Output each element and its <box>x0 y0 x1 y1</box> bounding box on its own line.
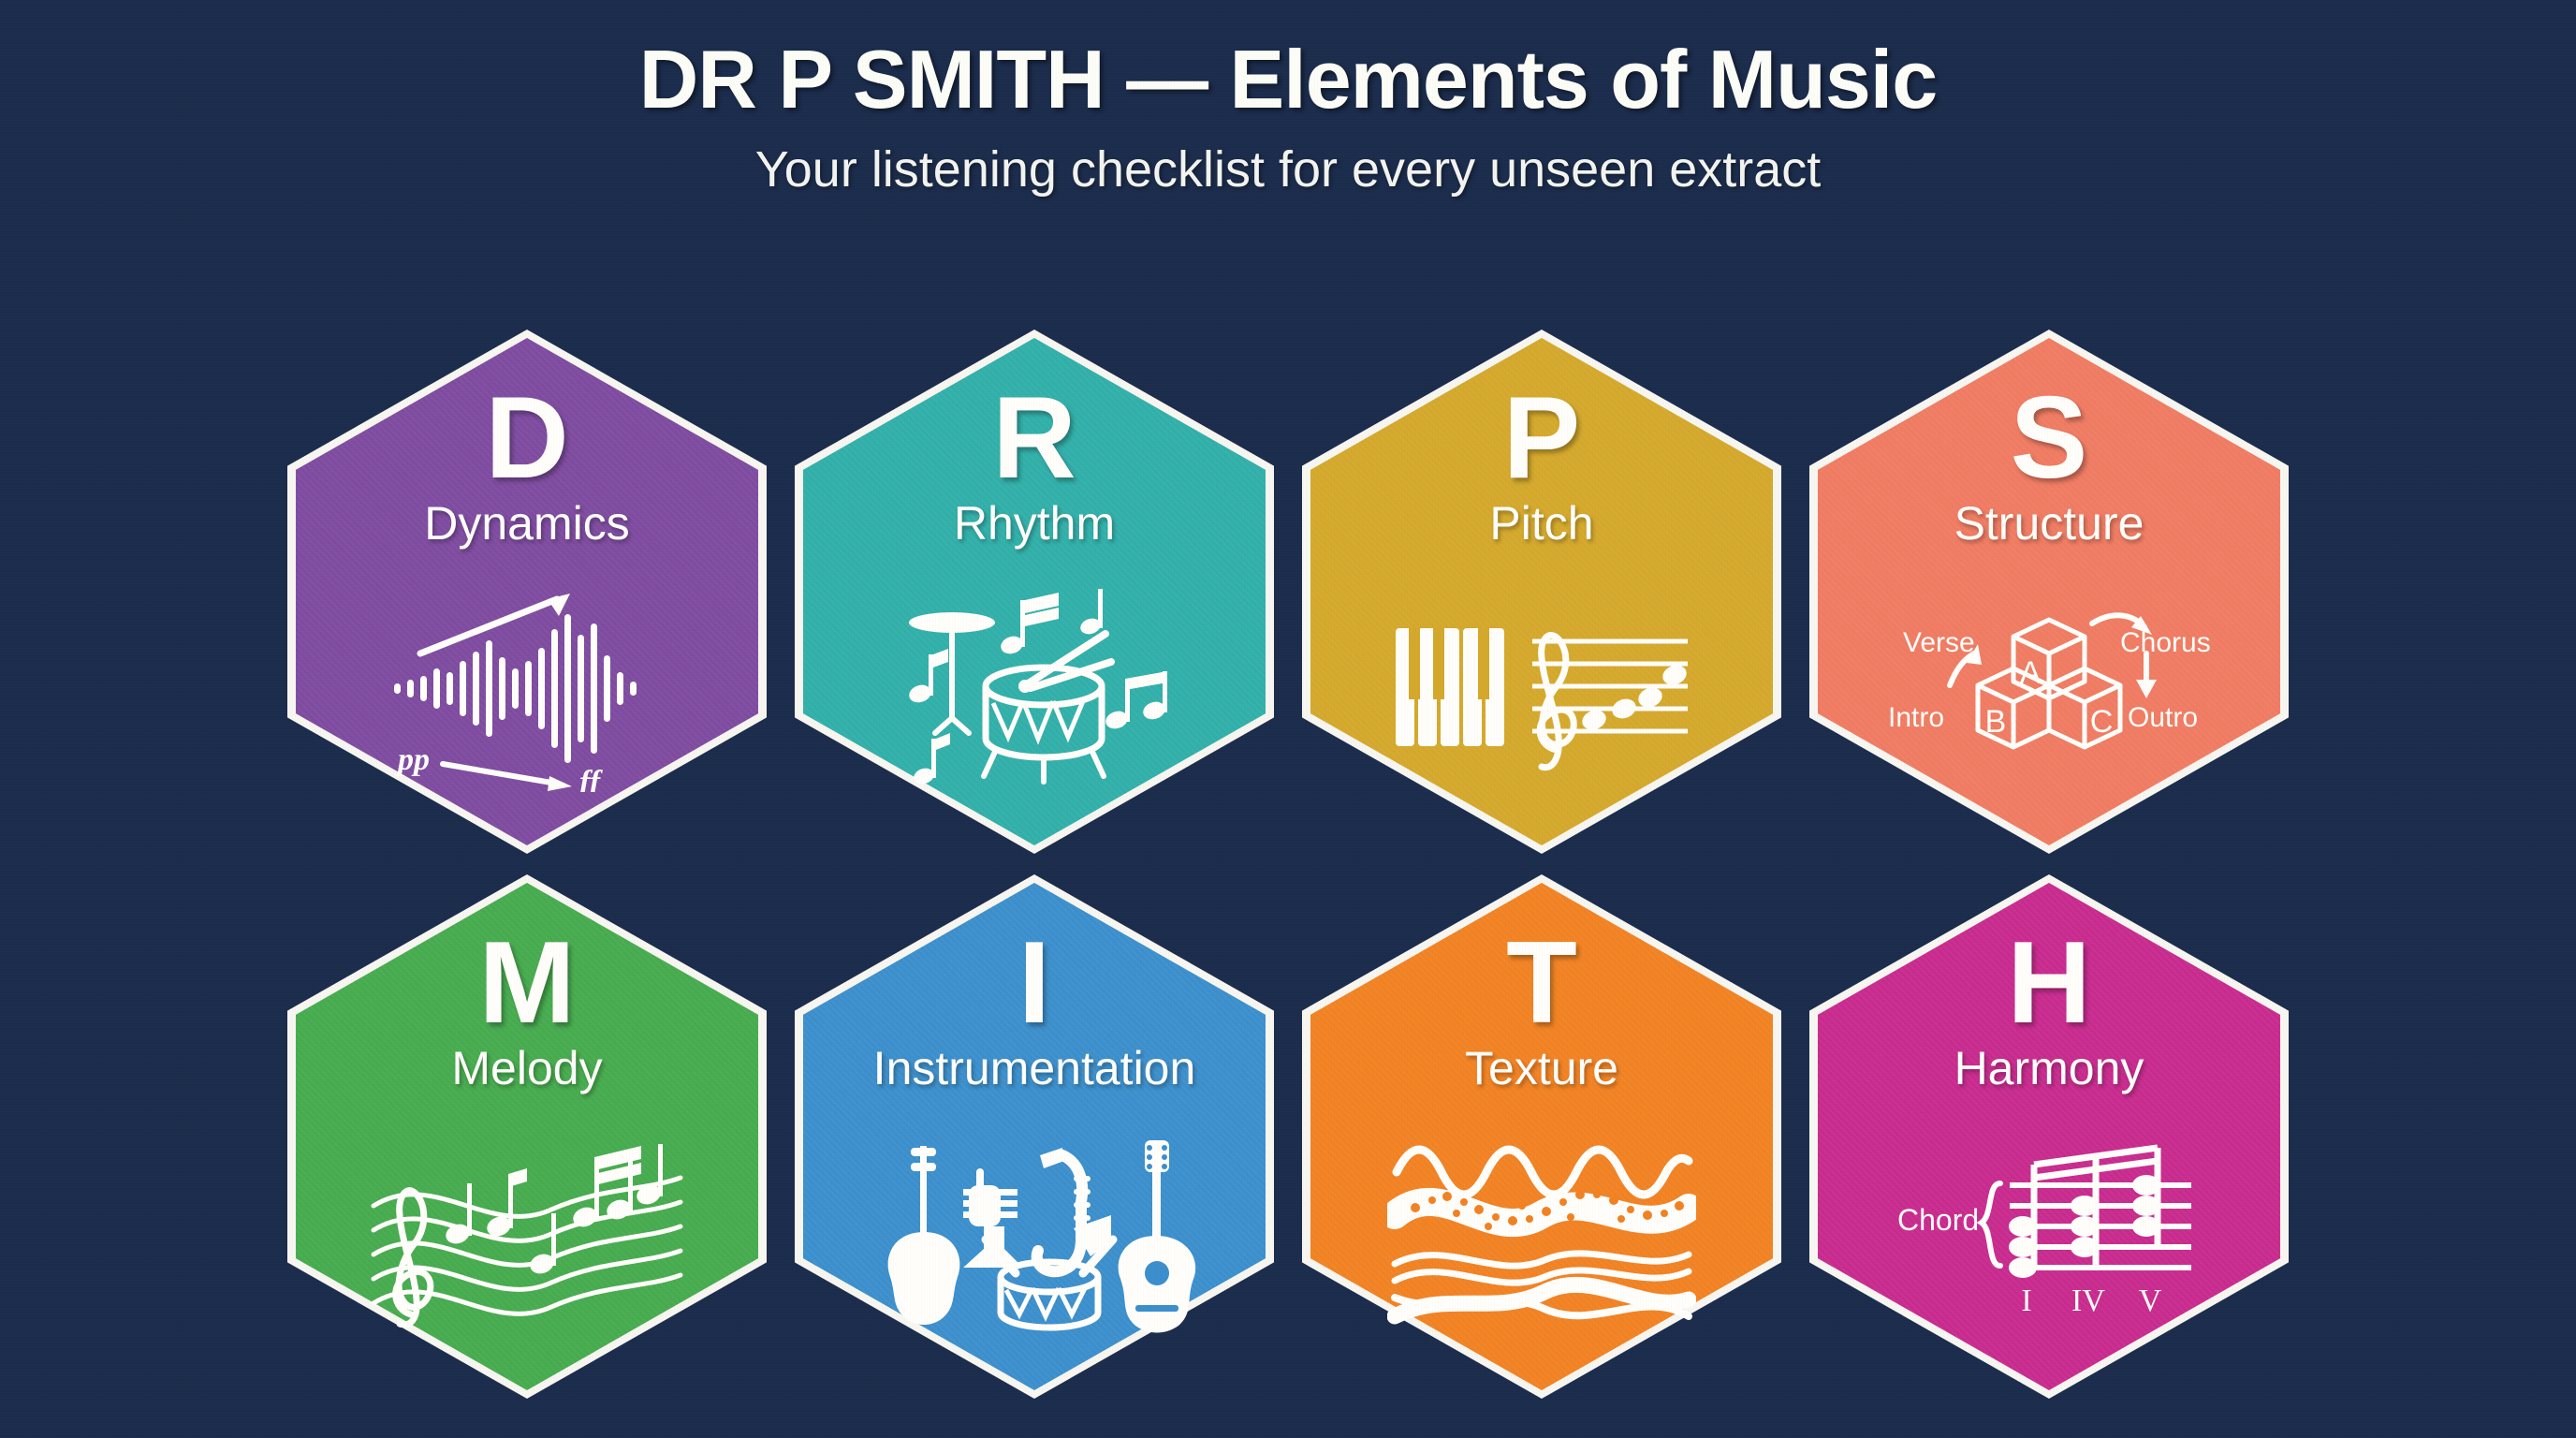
layered-waves-icon <box>1302 1095 1781 1399</box>
harmony-numeral-v: V <box>2139 1284 2162 1318</box>
elements-grid: D Dynamics <box>0 330 2576 1399</box>
flowing-staff-notes-icon <box>287 1095 767 1399</box>
element-card-melody[interactable]: M Melody <box>287 874 767 1399</box>
element-word-texture: Texture <box>1465 1041 1618 1095</box>
page-subtitle: Your listening checklist for every unsee… <box>0 140 2576 198</box>
dynamics-pp-label: pp <box>395 742 430 777</box>
block-letter-a: A <box>2020 655 2042 691</box>
element-word-rhythm: Rhythm <box>954 496 1115 550</box>
element-card-structure[interactable]: S Structure <box>1809 330 2289 854</box>
element-letter-s: S <box>2011 384 2088 494</box>
element-card-rhythm[interactable]: R Rhythm <box>795 330 1274 854</box>
element-letter-t: T <box>1506 929 1577 1039</box>
element-card-instrumentation[interactable]: I Instrumentation <box>795 874 1274 1399</box>
element-word-structure: Structure <box>1954 496 2144 550</box>
piano-keys-treble-staff-icon <box>1302 550 1781 854</box>
harmony-chord-label: Chord <box>1897 1203 1979 1237</box>
element-card-pitch[interactable]: P Pitch <box>1302 330 1781 854</box>
harmony-numeral-iv: IV <box>2071 1284 2105 1318</box>
element-word-pitch: Pitch <box>1489 496 1593 550</box>
elements-row-bottom: M Melody <box>287 874 2289 1399</box>
page-title: DR P SMITH — Elements of Music <box>0 32 2576 127</box>
element-card-harmony[interactable]: H Harmony Chord <box>1809 874 2289 1399</box>
structure-label-chorus: Chorus <box>2120 627 2211 658</box>
structure-label-verse: Verse <box>1903 627 1975 658</box>
element-word-harmony: Harmony <box>1954 1041 2144 1095</box>
harmony-numeral-i: I <box>2021 1284 2031 1318</box>
block-letter-b: B <box>1985 704 2007 740</box>
element-letter-r: R <box>992 384 1076 494</box>
abc-blocks-icon: A B C <box>1809 550 2289 854</box>
structure-label-outro: Outro <box>2128 702 2198 733</box>
element-letter-i: I <box>1018 929 1050 1039</box>
element-letter-h: H <box>2007 929 2091 1039</box>
header-block: DR P SMITH — Elements of Music Your list… <box>0 32 2576 198</box>
structure-label-intro: Intro <box>1888 702 1944 733</box>
element-letter-d: D <box>485 384 569 494</box>
dynamics-ff-label: ff <box>579 765 604 792</box>
element-word-dynamics: Dynamics <box>424 496 629 550</box>
element-word-instrumentation: Instrumentation <box>873 1041 1196 1095</box>
elements-row-top: D Dynamics <box>287 330 2289 854</box>
element-card-dynamics[interactable]: D Dynamics <box>287 330 767 854</box>
chord-staff-icon: Chord <box>1809 1095 2289 1399</box>
instruments-icon <box>795 1095 1274 1399</box>
element-card-texture[interactable]: T Texture <box>1302 874 1781 1399</box>
element-letter-m: M <box>478 929 575 1039</box>
drum-kit-icon <box>795 550 1274 854</box>
block-letter-c: C <box>2090 704 2114 740</box>
element-letter-p: P <box>1503 384 1581 494</box>
waveform-crescendo-icon: pp ff <box>287 550 767 854</box>
element-word-melody: Melody <box>451 1041 602 1095</box>
